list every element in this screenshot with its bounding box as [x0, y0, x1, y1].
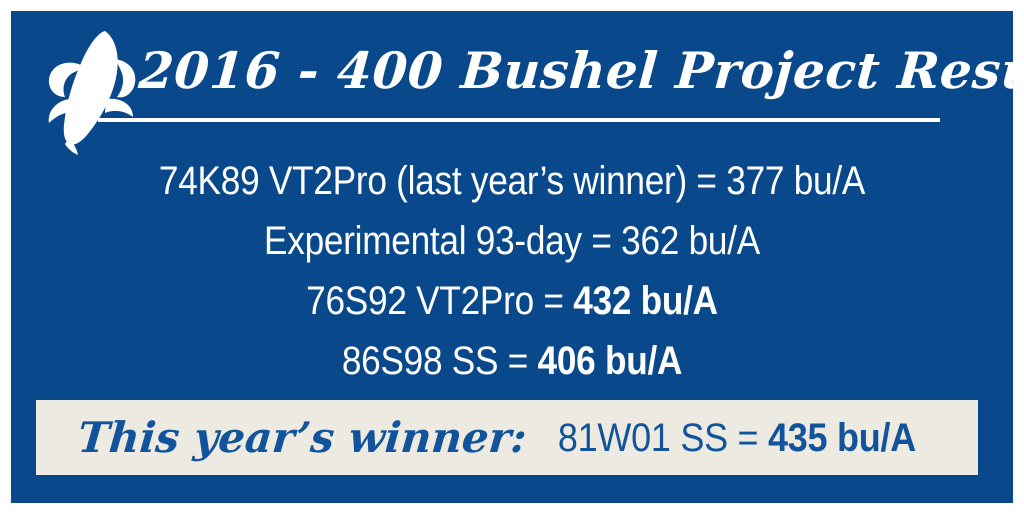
winner-script-label: This year’s winner:: [75, 410, 528, 466]
results-list: 74K89 VT2Pro (last year’s winner) = 377 …: [11, 151, 1013, 391]
result-label: Experimental 93-day =: [264, 219, 621, 263]
winner-highlight-bar: This year’s winner: 81W01 SS = 435 bu/A: [36, 400, 978, 475]
blue-panel: 2016 - 400 Bushel Project Results: 74K89…: [11, 11, 1013, 503]
result-row: 86S98 SS = 406 bu/A: [71, 331, 953, 391]
result-value: 432 bu/A: [573, 279, 718, 323]
result-row: 74K89 VT2Pro (last year’s winner) = 377 …: [71, 151, 953, 211]
result-label: 86S98 SS =: [342, 339, 538, 383]
result-row: 76S92 VT2Pro = 432 bu/A: [71, 271, 953, 331]
winner-result: 81W01 SS = 435 bu/A: [558, 410, 916, 466]
winner-result-label: 81W01 SS =: [558, 416, 768, 460]
result-value: 406 bu/A: [538, 339, 683, 383]
result-value: 377 bu/A: [726, 159, 865, 203]
poster-header: 2016 - 400 Bushel Project Results:: [11, 11, 1013, 131]
poster-root: 2016 - 400 Bushel Project Results: 74K89…: [0, 0, 1024, 514]
result-label: 74K89 VT2Pro (last year’s winner) =: [159, 159, 726, 203]
winner-result-value: 435 bu/A: [768, 416, 916, 460]
title-divider: [98, 118, 940, 122]
page-title: 2016 - 400 Bushel Project Results:: [136, 27, 972, 115]
result-label: 76S92 VT2Pro =: [306, 279, 573, 323]
result-row: Experimental 93-day = 362 bu/A: [71, 211, 953, 271]
corn-ear-icon: [39, 25, 147, 157]
result-value: 362 bu/A: [621, 219, 760, 263]
